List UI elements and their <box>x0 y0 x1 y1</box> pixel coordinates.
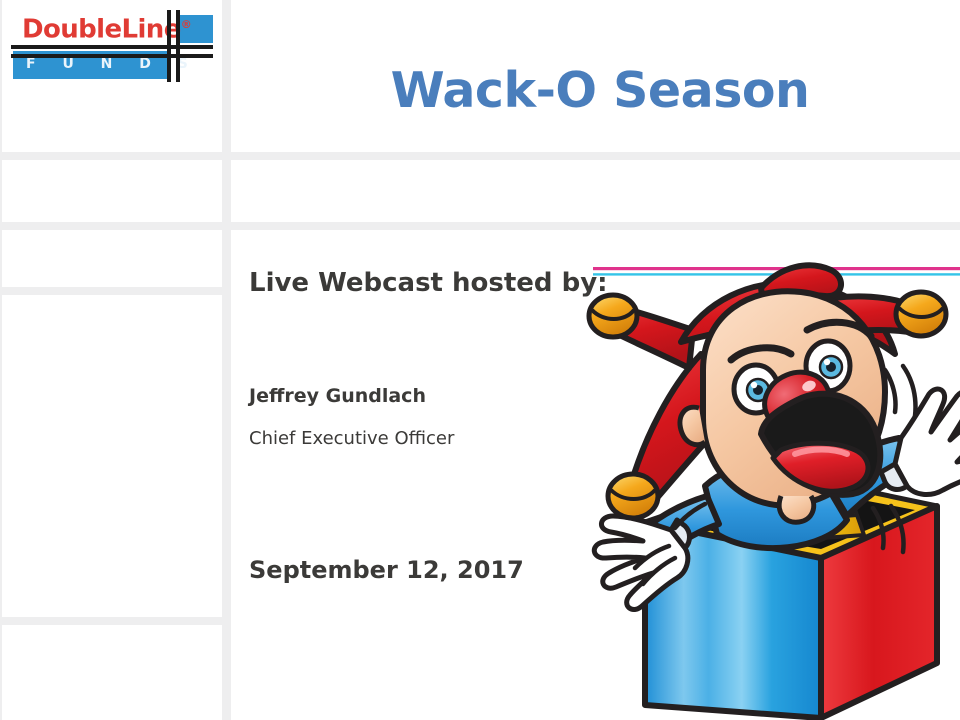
logo-rule-v-right <box>176 10 180 82</box>
webcast-date: September 12, 2017 <box>249 556 524 584</box>
logo-wordmark: DoubleLine® <box>22 10 191 45</box>
logo-wordmark-text: DoubleLine <box>22 15 181 45</box>
grid-rule-vertical-1 <box>222 0 231 720</box>
grid-rule-horizontal-4 <box>0 617 222 625</box>
bell-icon-left-low <box>608 474 658 518</box>
doubleline-funds-logo: DoubleLine® F U N D S <box>8 10 213 82</box>
logo-funds-text: F U N D S <box>26 56 199 72</box>
slide-canvas: DoubleLine® F U N D S Wack-O Season Live… <box>0 0 960 720</box>
logo-rule-h-bottom <box>11 54 213 58</box>
registered-trademark-icon: ® <box>181 18 191 31</box>
speaker-title: Chief Executive Officer <box>249 428 454 449</box>
jack-in-the-box-jester-image <box>585 258 960 720</box>
bell-icon-right <box>896 292 946 336</box>
webcast-host-label: Live Webcast hosted by: <box>249 268 608 298</box>
speaker-name: Jeffrey Gundlach <box>249 385 426 407</box>
logo-rule-v-left <box>167 10 171 82</box>
bell-icon-left-top <box>589 295 637 337</box>
logo-rule-h-top <box>11 45 213 49</box>
grid-rule-horizontal-2 <box>0 222 960 230</box>
grid-rule-horizontal-1 <box>0 152 960 160</box>
grid-rule-horizontal-3 <box>0 287 222 295</box>
logo-cell: DoubleLine® F U N D S <box>0 0 222 152</box>
slide-title: Wack-O Season <box>240 62 960 119</box>
